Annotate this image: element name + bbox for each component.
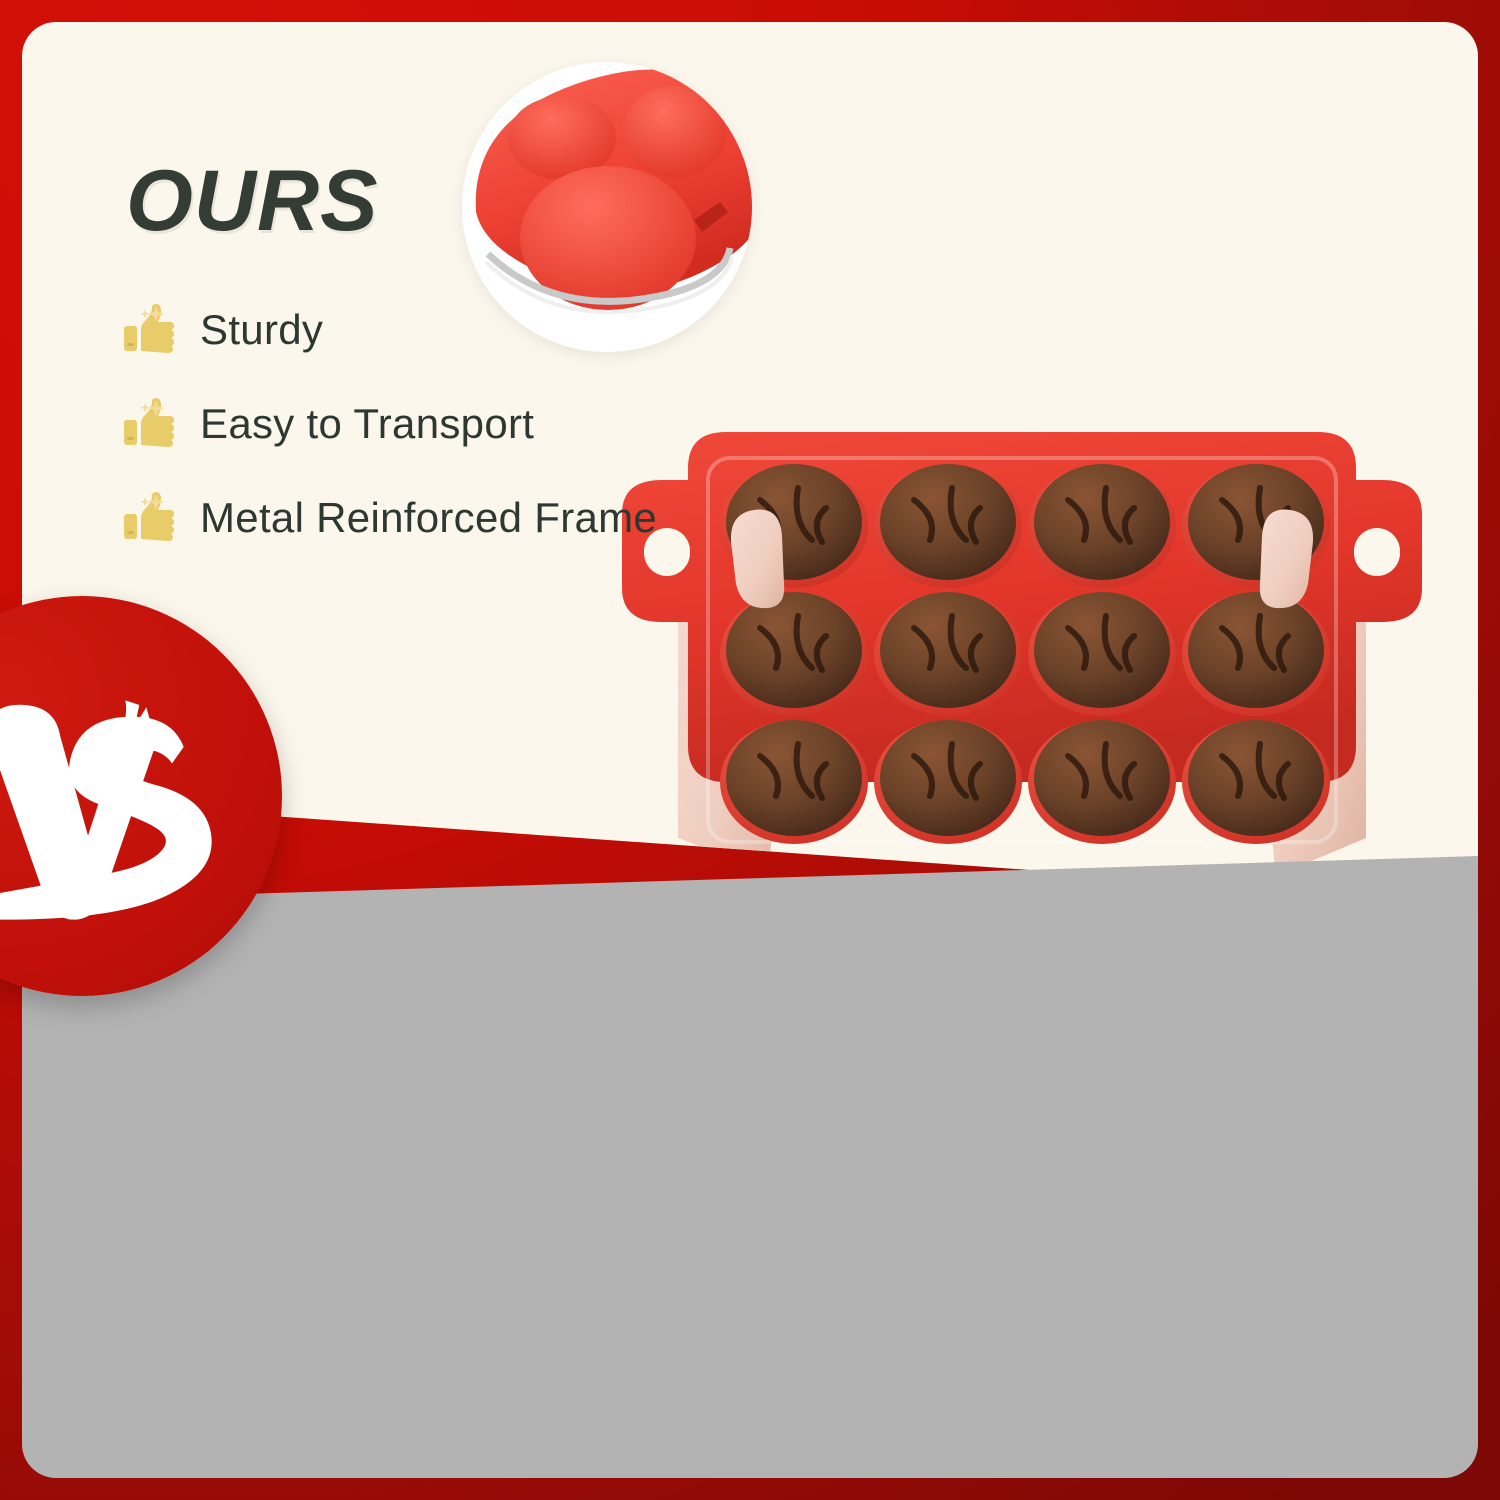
list-item: Sturdy [120, 302, 760, 358]
list-item-label: Sturdy [200, 306, 323, 354]
thumbs-up-icon [120, 491, 174, 545]
list-item-label: Easy to Transport [200, 400, 534, 448]
others-panel: OTHERS Collapse & Bend Easy to Deform [22, 856, 1478, 1478]
list-item: Easy to Transport [120, 396, 760, 452]
vs-brush-logo: VS [0, 656, 235, 936]
thumbs-up-icon [120, 303, 174, 357]
page-title-ours: OURS [126, 158, 378, 244]
ours-feature-list: Sturdy Easy to Transport [120, 302, 760, 584]
thumbs-up-icon [120, 397, 174, 451]
list-item-label: Metal Reinforced Frame [200, 494, 657, 542]
comparison-infographic: OURS Sturdy [0, 0, 1500, 1500]
list-item: Metal Reinforced Frame [120, 490, 760, 546]
